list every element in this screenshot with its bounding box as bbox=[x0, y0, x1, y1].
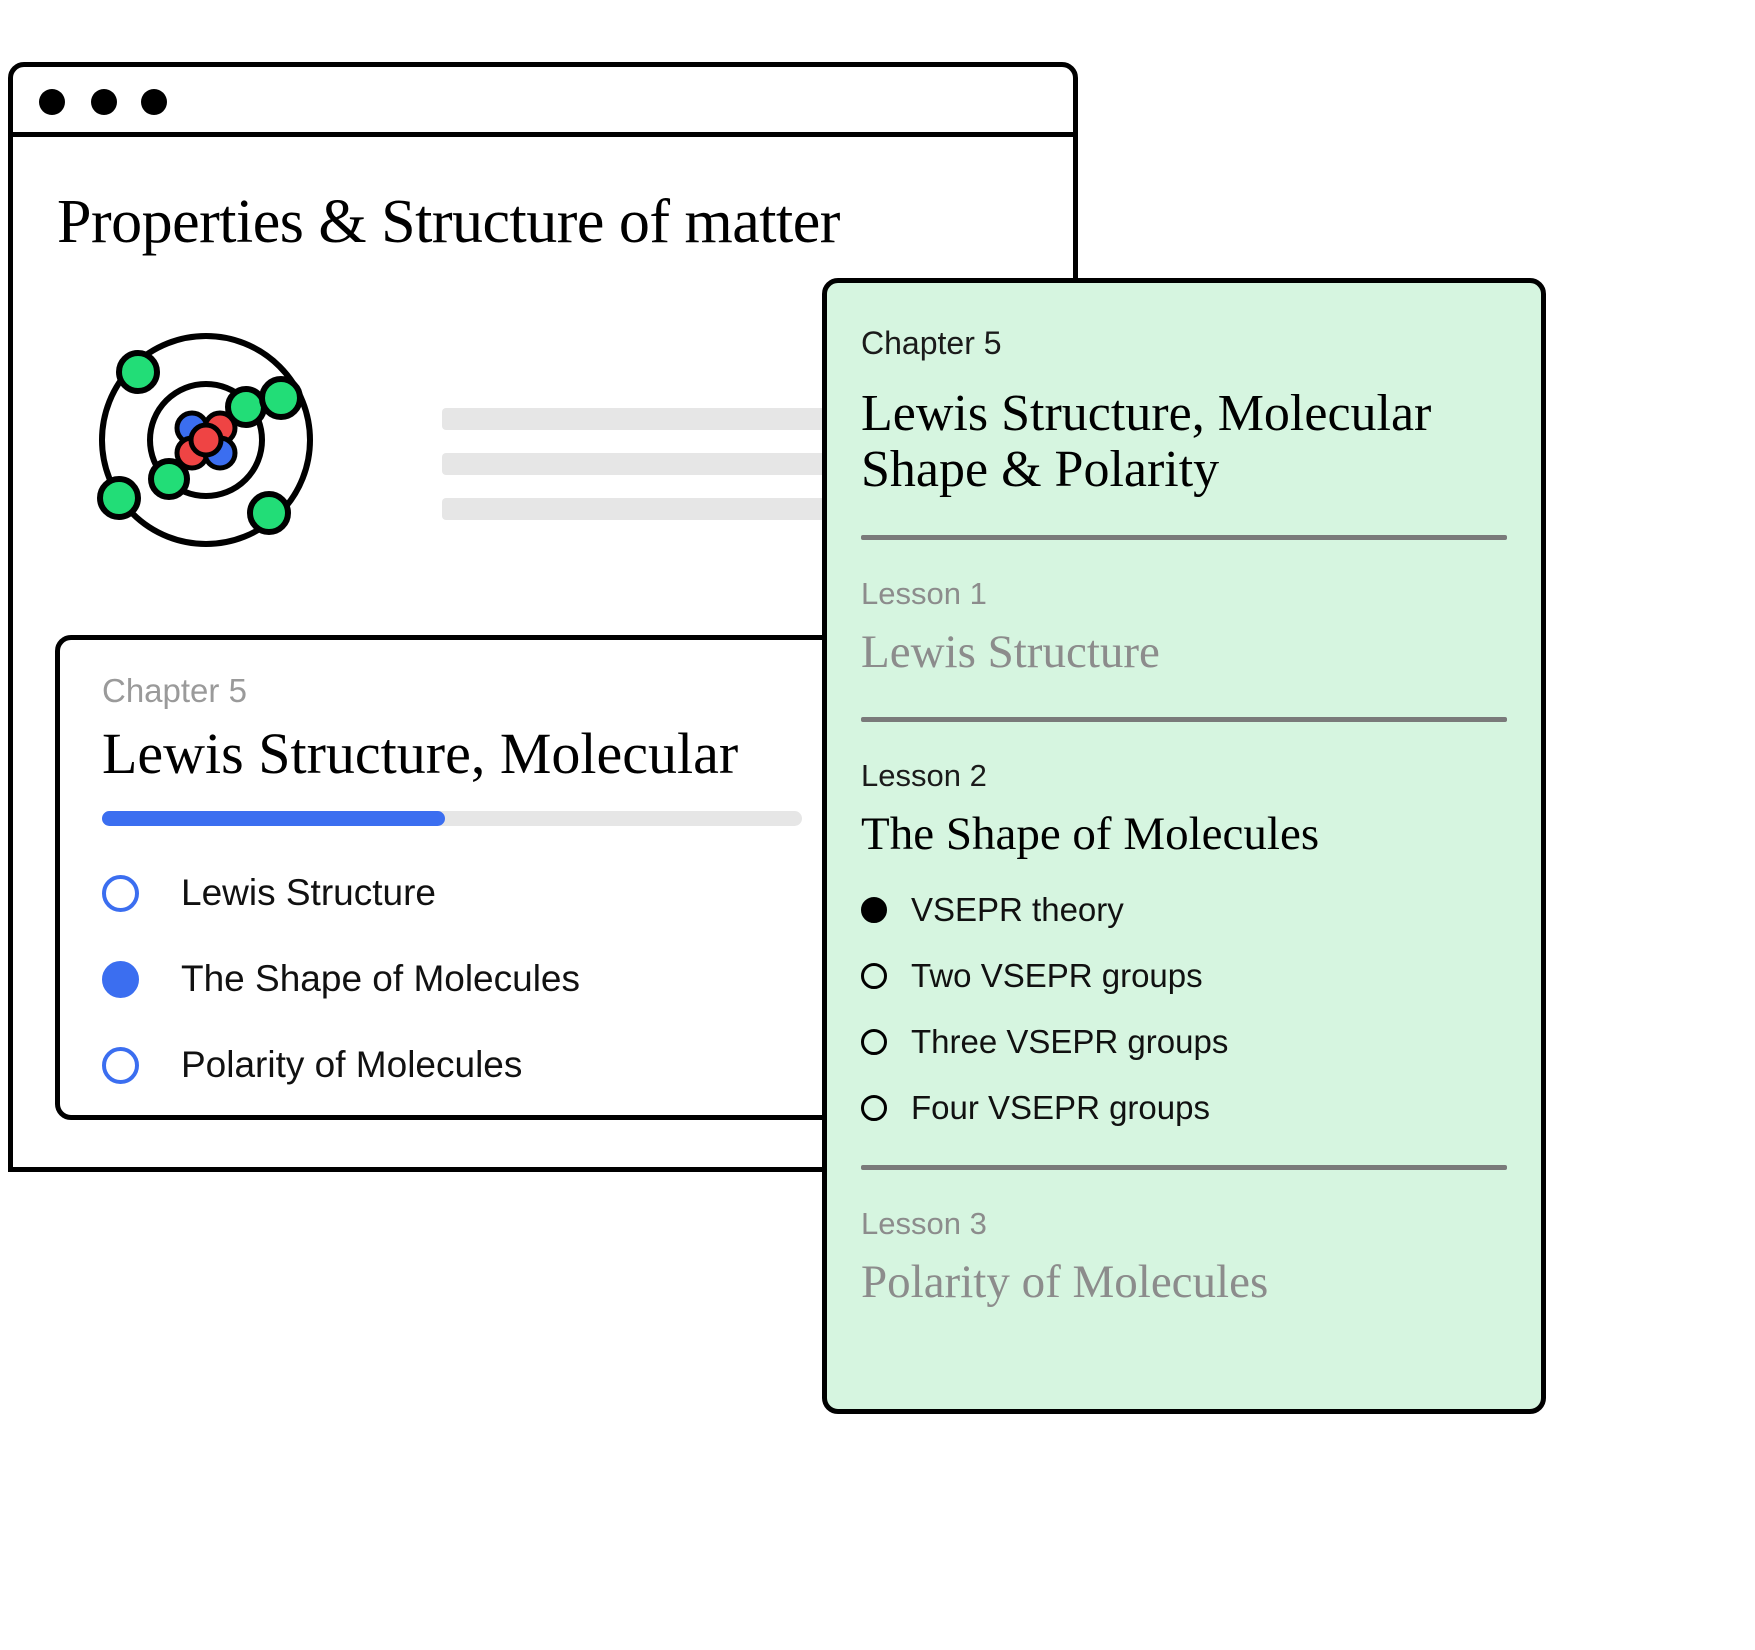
list-item[interactable]: Four VSEPR groups bbox=[861, 1089, 1507, 1127]
lesson-block-3[interactable]: Lesson 3 Polarity of Molecules bbox=[861, 1206, 1507, 1309]
list-item-label: VSEPR theory bbox=[911, 891, 1124, 929]
divider bbox=[861, 535, 1507, 540]
panel-chapter-label: Chapter 5 bbox=[861, 325, 1507, 362]
list-item-label: Three VSEPR groups bbox=[911, 1023, 1228, 1061]
list-item[interactable]: Three VSEPR groups bbox=[861, 1023, 1507, 1061]
divider bbox=[861, 1165, 1507, 1170]
list-item[interactable]: Polarity of Molecules bbox=[102, 1034, 802, 1096]
page-title: Properties & Structure of matter bbox=[57, 187, 840, 258]
list-item[interactable]: VSEPR theory bbox=[861, 891, 1507, 929]
lesson-number: Lesson 1 bbox=[861, 576, 1507, 612]
list-item[interactable]: The Shape of Molecules bbox=[102, 948, 802, 1010]
list-item-label: The Shape of Molecules bbox=[181, 958, 580, 1000]
lesson-title: Polarity of Molecules bbox=[861, 1256, 1507, 1309]
radio-selected-icon[interactable] bbox=[861, 897, 887, 923]
radio-unselected-icon[interactable] bbox=[861, 963, 887, 989]
lesson-title: Lewis Structure bbox=[861, 626, 1507, 679]
divider bbox=[861, 717, 1507, 722]
progress-bar-track bbox=[102, 811, 802, 826]
list-item-label: Lewis Structure bbox=[181, 872, 436, 914]
list-item-label: Four VSEPR groups bbox=[911, 1089, 1210, 1127]
list-item-label: Polarity of Molecules bbox=[181, 1044, 522, 1086]
lesson-topic-list: VSEPR theory Two VSEPR groups Three VSEP… bbox=[861, 891, 1507, 1127]
radio-unselected-icon[interactable] bbox=[102, 875, 139, 912]
radio-unselected-icon[interactable] bbox=[861, 1095, 887, 1121]
chapter-detail-panel: Chapter 5 Lewis Structure, Molecular Sha… bbox=[822, 278, 1546, 1414]
panel-title: Lewis Structure, Molecular Shape & Polar… bbox=[861, 386, 1507, 497]
lesson-number: Lesson 2 bbox=[861, 758, 1507, 794]
radio-unselected-icon[interactable] bbox=[102, 1047, 139, 1084]
card-chapter-label: Chapter 5 bbox=[102, 672, 247, 710]
window-titlebar bbox=[13, 67, 1073, 137]
list-item-label: Two VSEPR groups bbox=[911, 957, 1203, 995]
lesson-block-1[interactable]: Lesson 1 Lewis Structure bbox=[861, 576, 1507, 679]
lesson-title: The Shape of Molecules bbox=[861, 808, 1507, 861]
lesson-number: Lesson 3 bbox=[861, 1206, 1507, 1242]
card-title: Lewis Structure, Molecular bbox=[102, 720, 738, 787]
list-item[interactable]: Lewis Structure bbox=[102, 862, 802, 924]
progress-bar-fill bbox=[102, 811, 445, 826]
lesson-block-2[interactable]: Lesson 2 The Shape of Molecules VSEPR th… bbox=[861, 758, 1507, 1127]
close-dot-icon[interactable] bbox=[39, 89, 65, 115]
radio-selected-icon[interactable] bbox=[102, 961, 139, 998]
card-option-list: Lewis Structure The Shape of Molecules P… bbox=[102, 862, 802, 1120]
radio-unselected-icon[interactable] bbox=[861, 1029, 887, 1055]
maximize-dot-icon[interactable] bbox=[141, 89, 167, 115]
atom-diagram-icon bbox=[91, 325, 321, 555]
list-item[interactable]: Two VSEPR groups bbox=[861, 957, 1507, 995]
minimize-dot-icon[interactable] bbox=[91, 89, 117, 115]
